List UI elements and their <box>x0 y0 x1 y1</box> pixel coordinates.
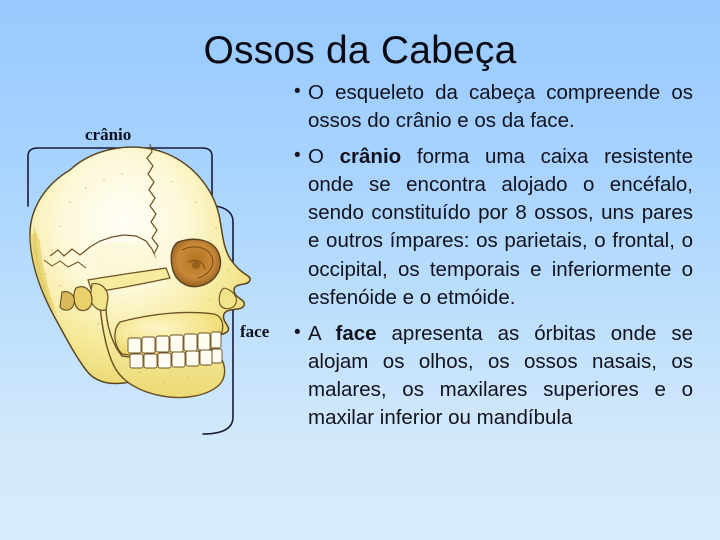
bullet-marker: • <box>294 319 301 347</box>
skull-illustration: crânio face <box>0 110 290 450</box>
bullet-marker: • <box>294 78 301 106</box>
slide-canvas: Ossos da Cabeça <box>0 0 720 540</box>
bullet-marker: • <box>294 142 301 170</box>
bullet-text: O crânio forma uma caixa resistente onde… <box>308 145 693 308</box>
page-title: Ossos da Cabeça <box>0 28 720 74</box>
bullet-text: O esqueleto da cabeça compreende os osso… <box>308 81 693 132</box>
bullet-item: • O crânio forma uma caixa resistente on… <box>293 143 693 312</box>
bullet-item: • O esqueleto da cabeça compreende os os… <box>293 79 693 135</box>
label-cranio: crânio <box>85 125 131 145</box>
bullet-item: • A face apresenta as órbitas onde se al… <box>293 320 693 432</box>
body-text-column: • O esqueleto da cabeça compreende os os… <box>293 79 693 432</box>
bullet-text: A face apresenta as órbitas onde se aloj… <box>308 322 693 429</box>
skull-drawing <box>0 110 290 450</box>
label-face: face <box>240 322 269 342</box>
